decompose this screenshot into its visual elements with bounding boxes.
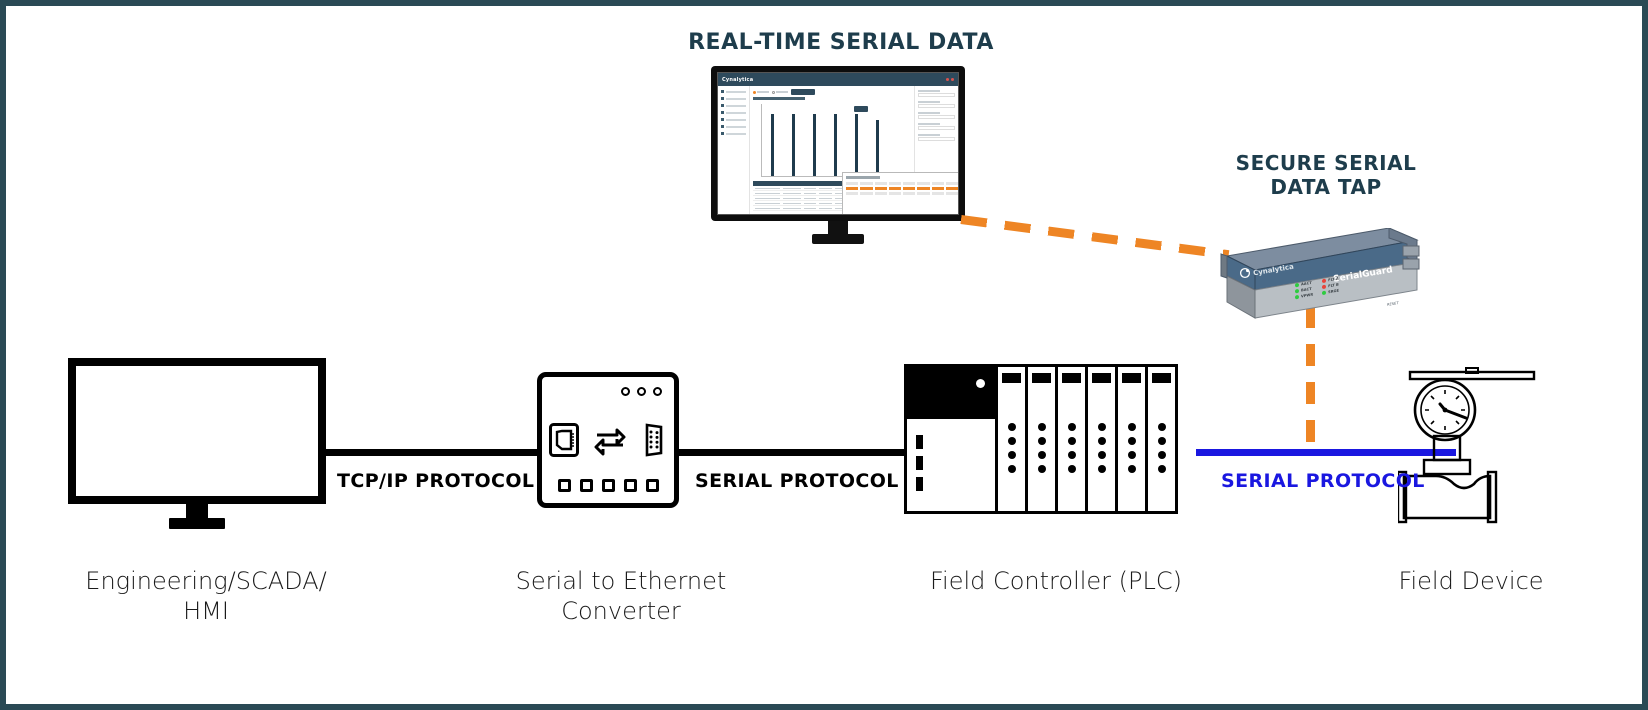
dashboard-screen: Cynalytica (717, 72, 959, 215)
export-to-csv-button[interactable] (791, 89, 815, 95)
filter-message-length[interactable] (918, 112, 955, 119)
chart-bar (771, 114, 774, 176)
serialguard-illustration (1211, 228, 1423, 328)
radio-message-size[interactable] (772, 91, 788, 94)
realtime-serial-data-title: REAL-TIME SERIAL DATA (626, 30, 1056, 56)
module-tab (1032, 373, 1051, 383)
dashboard-sidebar[interactable] (718, 86, 750, 214)
radio-unselected-icon (772, 91, 775, 94)
dashboard-monitor: Cynalytica (711, 66, 965, 244)
window-minimize-icon[interactable] (946, 78, 949, 81)
slot-icon (916, 456, 923, 470)
plc-io-module (1145, 364, 1178, 514)
port-icon (580, 479, 593, 492)
radio-selected-icon (753, 91, 756, 94)
dashboard-toolbar[interactable] (753, 89, 911, 95)
filter-port[interactable] (918, 123, 955, 130)
plc-io-module (995, 364, 1028, 514)
secure-serial-data-tap-title: SECURE SERIAL DATA TAP (1186, 152, 1466, 199)
wire-converter-to-plc (676, 449, 906, 456)
sidebar-item-dashboard[interactable] (721, 90, 746, 93)
window-close-icon[interactable] (951, 78, 954, 81)
window-controls[interactable] (946, 78, 954, 81)
port-icon (602, 479, 615, 492)
module-tab (1092, 373, 1111, 383)
sidebar-item-devices[interactable] (721, 97, 746, 100)
led-indicator-icon (1322, 285, 1326, 290)
tap-link-to-serial-line (1306, 306, 1315, 454)
caption-hmi: Engineering/SCADA/ HMI (46, 566, 366, 626)
sidebar-item-settings[interactable] (721, 132, 746, 135)
shield-icon (721, 118, 724, 121)
slot-icon (916, 477, 923, 491)
log-icon (721, 111, 724, 114)
hmi-monitor-neck (186, 504, 208, 518)
module-terminals (1068, 423, 1076, 473)
led-indicator-icon (1295, 283, 1299, 288)
hmi-monitor-screen (74, 364, 320, 498)
sidebar-item-admin[interactable] (721, 125, 746, 128)
engineering-hmi-workstation (68, 358, 326, 529)
led-indicator-icon (1322, 291, 1326, 296)
module-tab (1122, 373, 1141, 383)
rj45-ethernet-icon (549, 423, 579, 457)
chart-bar (813, 114, 816, 176)
plc-cpu-faceplate (907, 367, 995, 419)
radio-message-count[interactable] (753, 91, 769, 94)
overlay-row (846, 182, 958, 185)
led-column-right: FLT A FLT B SRGE (1322, 277, 1339, 296)
caption-plc: Field Controller (PLC) (886, 566, 1226, 596)
field-controller-plc (904, 364, 1178, 514)
protocol-label-tcpip: TCP/IP PROTOCOL (337, 470, 534, 492)
sidebar-item-audit-log[interactable] (721, 111, 746, 114)
sidebar-item-notifications[interactable] (721, 104, 746, 107)
dashboard-monitor-bezel: Cynalytica (711, 66, 965, 221)
led-icon (637, 387, 646, 396)
user-icon (721, 125, 724, 128)
converter-bottom-ports (542, 479, 674, 492)
devices-icon (721, 97, 724, 100)
caption-hmi-line1: Engineering/SCADA/ (46, 566, 366, 596)
led-column-left: AACT BACT VPWR (1295, 281, 1313, 300)
plc-io-module (1115, 364, 1148, 514)
caption-converter-line1: Serial to Ethernet (476, 566, 766, 596)
dashboard-icon (721, 90, 724, 93)
hex-data-overlay-window (842, 172, 959, 215)
caption-field-device: Field Device (1326, 566, 1616, 596)
module-terminals (1008, 423, 1016, 473)
overlay-title (846, 176, 880, 179)
chart-title-bar (753, 97, 805, 100)
bell-icon (721, 104, 724, 107)
overlay-row-highlighted (846, 187, 958, 190)
plc-io-module (1055, 364, 1088, 514)
monitor-base (812, 234, 864, 244)
port-icon (624, 479, 637, 492)
caption-converter: Serial to Ethernet Converter (476, 566, 766, 626)
serial-to-ethernet-converter (537, 372, 679, 508)
port-icon (646, 479, 659, 492)
module-tab (1152, 373, 1171, 383)
filter-stop-polarity[interactable] (918, 134, 955, 141)
tap-link-to-dashboard (960, 215, 1229, 259)
tap-title-line2: DATA TAP (1186, 176, 1466, 200)
chart-bar (834, 114, 837, 176)
slot-icon (916, 435, 923, 449)
caption-converter-line2: Converter (476, 596, 766, 626)
message-count-bar-chart (761, 104, 909, 177)
plc-io-module (1025, 364, 1058, 514)
tap-title-line1: SECURE SERIAL (1186, 152, 1466, 176)
plc-io-module (1085, 364, 1118, 514)
hmi-monitor-bezel (68, 358, 326, 504)
led-indicator-icon (1295, 289, 1299, 294)
chart-bar (855, 114, 858, 176)
overlay-row (846, 192, 958, 195)
led-icon (653, 387, 662, 396)
valve-illustration (1398, 366, 1548, 526)
plc-cpu-module (904, 364, 998, 514)
filter-date[interactable] (918, 90, 955, 97)
module-tab (1002, 373, 1021, 383)
converter-status-leds (621, 387, 662, 396)
dashboard-app-logo: Cynalytica (722, 77, 753, 83)
hmi-monitor-base (169, 518, 225, 529)
sidebar-item-policies[interactable] (721, 118, 746, 121)
protocol-label-serial: SERIAL PROTOCOL (695, 470, 899, 492)
plc-cpu-slots (916, 435, 923, 491)
module-terminals (1038, 423, 1046, 473)
bidirectional-convert-arrows-icon (593, 424, 627, 456)
converter-icon-row (542, 423, 674, 457)
monitor-neck (828, 221, 848, 234)
chart-tooltip (854, 106, 868, 112)
module-terminals (1098, 423, 1106, 473)
protocol-label-serial-tapped: SERIAL PROTOCOL (1221, 470, 1425, 492)
led-indicator-icon (1295, 295, 1299, 300)
module-terminals (1158, 423, 1166, 473)
chart-bar (876, 120, 879, 176)
port-icon (558, 479, 571, 492)
db9-serial-port-icon (641, 423, 667, 457)
power-led-icon (976, 379, 985, 388)
filter-protocol[interactable] (918, 101, 955, 108)
caption-hmi-line2: HMI (46, 596, 366, 626)
field-device-valve (1398, 366, 1548, 531)
serialguard-appliance: Cynalytica SerialGuard AACT BACT VPWR FL… (1211, 228, 1423, 328)
dashboard-topbar: Cynalytica (718, 73, 958, 86)
module-terminals (1128, 423, 1136, 473)
wire-hmi-to-converter (325, 449, 541, 456)
chart-bar (792, 114, 795, 176)
led-icon (621, 387, 630, 396)
module-tab (1062, 373, 1081, 383)
gear-icon (721, 132, 724, 135)
led-indicator-icon (1322, 279, 1326, 284)
network-diagram-canvas: REAL-TIME SERIAL DATA SECURE SERIAL DATA… (0, 0, 1648, 710)
